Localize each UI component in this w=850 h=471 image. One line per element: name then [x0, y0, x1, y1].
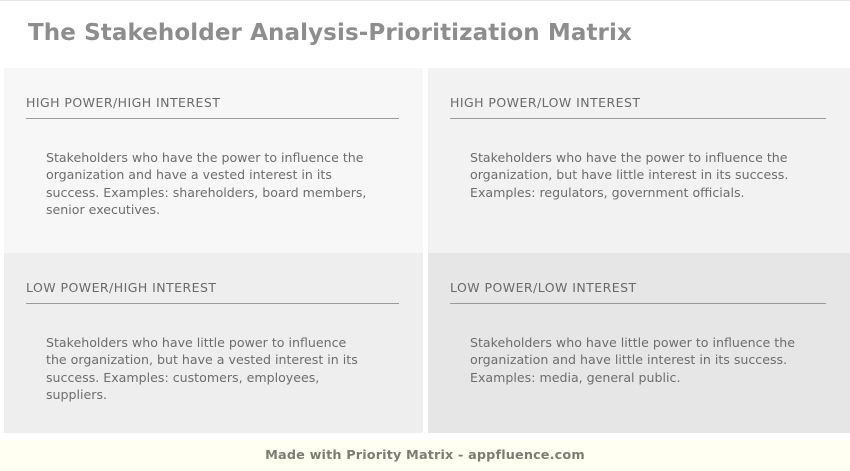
quadrant-content: HIGH POWER/LOW INTEREST Stakeholders who… [450, 68, 826, 253]
footer-attribution[interactable]: Made with Priority Matrix - appfluence.c… [265, 448, 585, 463]
quadrant-low-power-low-interest[interactable]: LOW POWER/LOW INTEREST Stakeholders who … [428, 253, 850, 433]
quadrant-content: LOW POWER/HIGH INTEREST Stakeholders who… [26, 253, 399, 433]
quadrant-body-high-power-low-interest: Stakeholders who have the power to influ… [450, 119, 800, 201]
quadrant-high-power-low-interest[interactable]: HIGH POWER/LOW INTEREST Stakeholders who… [428, 68, 850, 253]
quadrant-title-low-power-low-interest: LOW POWER/LOW INTEREST [450, 253, 826, 304]
quadrant-content: LOW POWER/LOW INTEREST Stakeholders who … [450, 253, 826, 433]
quadrant-body-low-power-high-interest: Stakeholders who have little power to in… [26, 304, 368, 404]
header-band: The Stakeholder Analysis-Prioritization … [0, 0, 850, 68]
quadrant-title-low-power-high-interest: LOW POWER/HIGH INTEREST [26, 253, 399, 304]
quadrant-low-power-high-interest[interactable]: LOW POWER/HIGH INTEREST Stakeholders who… [4, 253, 423, 433]
quadrant-content: HIGH POWER/HIGH INTEREST Stakeholders wh… [26, 68, 399, 253]
page-title: The Stakeholder Analysis-Prioritization … [28, 20, 632, 46]
quadrant-title-high-power-low-interest: HIGH POWER/LOW INTEREST [450, 68, 826, 119]
footer-band: Made with Priority Matrix - appfluence.c… [0, 440, 850, 471]
quadrant-high-power-high-interest[interactable]: HIGH POWER/HIGH INTEREST Stakeholders wh… [4, 68, 423, 253]
footer-spacer [0, 433, 850, 440]
matrix-grid: HIGH POWER/HIGH INTEREST Stakeholders wh… [0, 68, 850, 433]
stakeholder-matrix-page: The Stakeholder Analysis-Prioritization … [0, 0, 850, 471]
quadrant-body-high-power-high-interest: Stakeholders who have the power to influ… [26, 119, 368, 219]
quadrant-body-low-power-low-interest: Stakeholders who have little power to in… [450, 304, 800, 386]
quadrant-title-high-power-high-interest: HIGH POWER/HIGH INTEREST [26, 68, 399, 119]
